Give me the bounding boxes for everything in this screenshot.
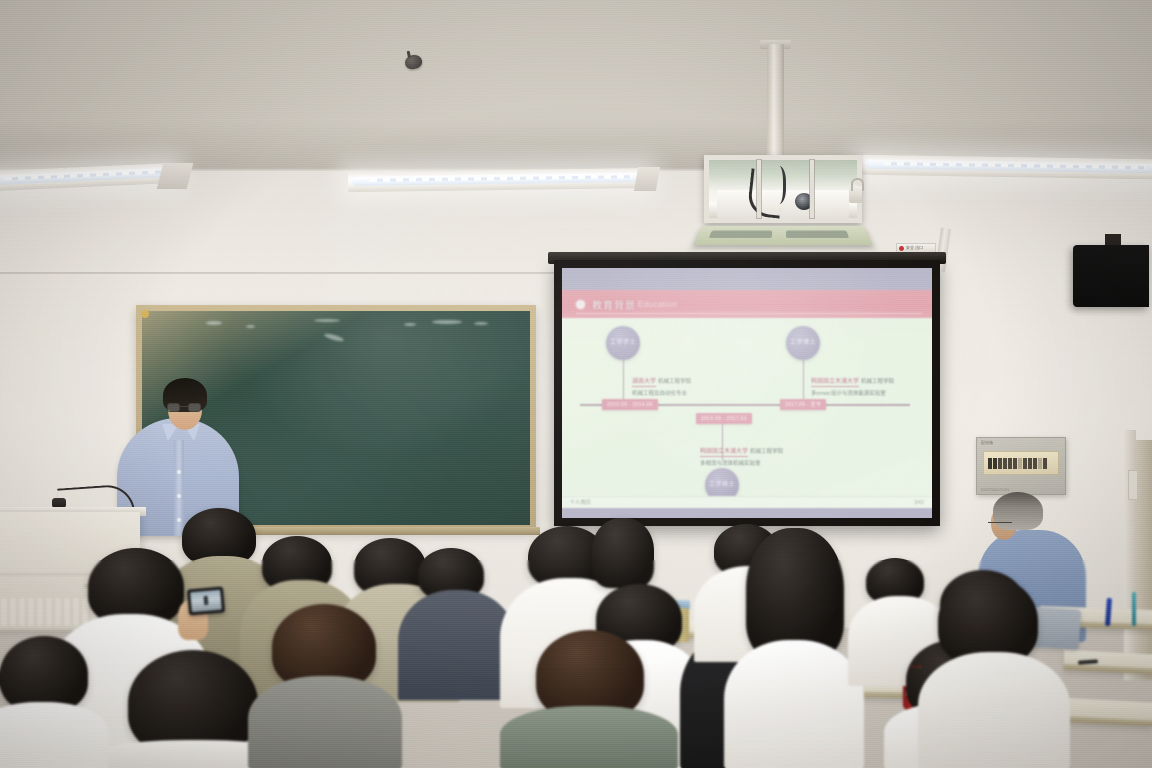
vent-slot: [786, 231, 849, 238]
shirt-button: [177, 470, 181, 474]
panel-top-label: 配电箱: [981, 440, 993, 446]
slide-body: 工学学士 湖南大学机械工程学院 机械工程及自动化专业 2010.09 - 201…: [562, 318, 932, 496]
node-badge-label: 工学博士: [790, 340, 816, 347]
shirt-button: [177, 518, 181, 522]
timeline-node-bachelor: 工学学士: [606, 326, 640, 360]
slide-footer: 个人简历 3/42: [562, 496, 932, 508]
timeline-node-doctor: 工学博士: [786, 326, 820, 360]
exit-sign-label: 安全 出口: [906, 245, 923, 251]
glasses-bridge: [180, 406, 188, 407]
audience-body: [248, 676, 402, 768]
breaker-panel: [983, 451, 1059, 475]
light-tube: [352, 173, 644, 186]
breaker: [1028, 458, 1032, 469]
entry-major: 多относ设计与流体能源实验室: [811, 391, 932, 398]
projector-cable-secondary: [769, 166, 786, 204]
slide-footer-left: 个人简历: [570, 499, 591, 506]
glasses-lens-left: [167, 403, 180, 412]
entry-college: 机械工程学院: [658, 379, 691, 385]
slide-bottom-strip: [562, 508, 932, 518]
pen-teal: [1132, 592, 1136, 626]
audience-head: [0, 636, 88, 712]
breaker: [988, 458, 992, 469]
cage-bar: [757, 160, 761, 218]
door-sign: [1128, 470, 1138, 500]
cage-bar: [810, 160, 814, 218]
chalk-smudge: [404, 323, 416, 326]
desk-edge: [1060, 716, 1152, 727]
shirt-button: [177, 494, 181, 498]
node-badge-label: 工学硕士: [709, 482, 735, 489]
projection-screen: 教育背景 Education 工学学士 湖南大学机械工程学院 机械工程及自动化专…: [554, 260, 940, 526]
glasses-icon: [167, 403, 203, 412]
phone-screen: [190, 590, 222, 613]
fluorescent-light-center: [348, 168, 648, 192]
chalk-smudge: [246, 325, 255, 328]
vent-slot: [709, 231, 773, 238]
blackboard-hook: [141, 310, 149, 318]
audience-body: [918, 652, 1070, 768]
slide-title-en: Education: [638, 300, 677, 309]
projector-vent-tray: [693, 226, 873, 245]
audience-body: [724, 640, 864, 768]
presentation-slide: 教育背景 Education 工学学士 湖南大学机械工程学院 机械工程及自动化专…: [562, 268, 932, 518]
entry-college: 机械工程学院: [861, 379, 894, 385]
desk-edge: [1064, 664, 1152, 675]
slide-top-strip: [562, 268, 932, 290]
breaker: [1003, 458, 1007, 469]
slide-title-cn: 教育背景: [592, 297, 636, 312]
breaker: [1013, 458, 1017, 469]
node-badge-label: 工学学士: [610, 340, 636, 347]
panel-bottom-label: DISTRIBUTION: [981, 487, 1009, 492]
entry-college: 机械工程学院: [750, 449, 783, 455]
projector-security-cage: [704, 155, 862, 223]
breaker: [1033, 458, 1037, 469]
projector-cage-interior: [709, 160, 857, 218]
chalk-smudge: [206, 321, 222, 325]
fire-extinguisher-label: 灭火器: [906, 665, 926, 669]
entry-university: 韩国国立木浦大学: [811, 379, 859, 387]
glasses-lens-right: [188, 403, 201, 412]
padlock-icon: [849, 186, 862, 203]
exit-sign-dot-icon: [899, 246, 904, 251]
breaker: [1008, 458, 1012, 469]
observer-glasses-icon: [988, 522, 1012, 529]
slide-page-number: 3/42: [914, 500, 924, 506]
entry-university: 湖南大学: [632, 379, 656, 387]
slide-header-rule: [576, 313, 922, 314]
timeline-date-label-3: 2017.09 - 至今: [780, 399, 826, 410]
wall-speaker: [1073, 245, 1149, 307]
projector-mount-pole: [767, 44, 784, 164]
breaker: [1043, 458, 1047, 469]
education-entry-doctor: 韩国国立木浦大学机械工程学院 多относ设计与流体能源实验室: [811, 368, 932, 399]
wall-trim-line: [0, 272, 560, 274]
timeline-date-label-2: 2014.09 - 2017.03: [696, 413, 752, 424]
classroom-photo: 安全 出口 教育背景 Education 工学学士 湖南大学机械工程学院: [0, 0, 1152, 768]
bullet-dot-icon: [576, 300, 585, 309]
light-tube: [0, 168, 171, 185]
breaker-row: [988, 458, 1047, 469]
timeline-date-label-1: 2010.09 - 2014.06: [602, 399, 658, 410]
light-tube: [866, 160, 1152, 174]
audience-body: [398, 590, 516, 700]
desk: [1060, 698, 1152, 727]
entry-university: 韩国国立木浦大学: [700, 449, 748, 457]
breaker: [1038, 458, 1042, 469]
electrical-panel-box: 配电箱 DISTRIBUTION: [976, 437, 1066, 495]
entry-major: 机械工程及自动化专业: [632, 391, 752, 398]
breaker: [1023, 458, 1027, 469]
chalk-smudge: [432, 320, 462, 324]
smartphone[interactable]: [187, 586, 225, 615]
audience-body: [500, 706, 678, 768]
education-entry-master: 韩国国立木浦大学机械工程学院 多相流与流体机械实验室: [700, 438, 830, 469]
education-entry-bachelor: 湖南大学机械工程学院 机械工程及自动化专业: [632, 368, 752, 399]
breaker: [1018, 458, 1022, 469]
breaker: [993, 458, 997, 469]
chalk-smudge: [314, 319, 340, 322]
chalk-smudge: [324, 332, 345, 342]
audience-body: [0, 702, 108, 768]
light-housing-center: [634, 167, 660, 191]
breaker: [998, 458, 1002, 469]
audience-head: [592, 518, 654, 588]
slide-header: 教育背景 Education: [562, 290, 932, 318]
chalk-smudge: [474, 322, 488, 325]
